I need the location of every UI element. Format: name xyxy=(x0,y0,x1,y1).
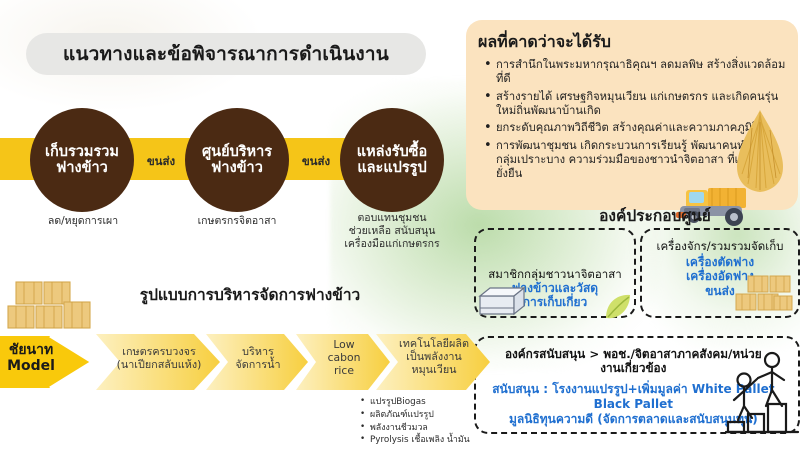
infographic-canvas: แนวทางและข้อพิจารณาการดำเนินงาน เก็บรวมร… xyxy=(0,0,800,450)
list-item: ผลิตภัณฑ์แปรรูป xyxy=(360,409,510,422)
flow-circle-center-line1: ศูนย์บริหาร xyxy=(202,144,272,160)
model-arrow-label-line1: ชัยนาท xyxy=(0,342,64,358)
flow-caption-buyer-line3: เครื่องมือแก่เกษตรกร xyxy=(330,238,454,251)
center-components-heading: องค์ประกอบศูนย์ xyxy=(560,203,750,228)
flow-step-1[interactable]: เกษตรครบวงจร (นาเปียกสลับแห้ง) xyxy=(96,330,222,394)
flow-circle-collect[interactable]: เก็บรวมรวม ฟางข้าว xyxy=(30,108,134,212)
flow-caption-buyer-line1: ตอบแทนชุมชน xyxy=(330,212,454,225)
component-box-support-org[interactable]: องค์กรสนับสนุน > พอช./จิตอาสาภาคสังคม/หน… xyxy=(474,336,800,434)
flow-circle-buyer[interactable]: แหล่งรับซื้อ และแปรรูป xyxy=(340,108,444,212)
transport-label-1: ขนส่ง xyxy=(133,153,189,171)
storage-crate-icon xyxy=(474,284,526,320)
flow-step-4-line1: เทคโนโลยีผลิต xyxy=(376,338,492,351)
component-box-machinery-label: เครื่องจักร/รวมรวมจัดเก็บ xyxy=(642,238,798,256)
list-item: แปรรูปBiogas xyxy=(360,396,510,409)
flow-caption-buyer-line2: ช่วยเหลือ สนับสนุน xyxy=(330,225,454,238)
flow-caption-collect: ลด/หยุดการเผา xyxy=(22,215,144,228)
component-box-members[interactable]: A B C สมาชิกกลุ่มชาวนาจิตอาสา ฟางข้าวและ… xyxy=(474,228,636,318)
flow-step-4[interactable]: เทคโนโลยีผลิต เป็นพลังงาน หมุนเวียน xyxy=(376,330,492,394)
bottom-flow-heading: รูปแบบการบริหารจัดการฟางข้าว xyxy=(100,282,400,307)
component-box-machinery-sublabel-line1: เครื่องตัดฟาง xyxy=(642,255,798,269)
flow-circle-collect-line2: ฟางข้าว xyxy=(45,160,119,176)
flow-step-1-line1: เกษตรครบวงจร xyxy=(96,346,222,359)
flow-step-1-line2: (นาเปียกสลับแห้ง) xyxy=(96,359,222,372)
flow-circle-center[interactable]: ศูนย์บริหาร ฟางข้าว xyxy=(185,108,289,212)
model-arrow-label: ชัยนาท Model xyxy=(0,342,64,374)
flow-step-4-line3: หมุนเวียน xyxy=(376,364,492,377)
page-title-pill: แนวทางและข้อพิจารณาการดำเนินงาน xyxy=(26,33,426,75)
model-arrow-label-line2: Model xyxy=(0,358,64,374)
flow-step-2[interactable]: บริหาร จัดการน้ำ xyxy=(206,330,310,394)
energy-technology-bullets: แปรรูปBiogas ผลิตภัณฑ์แปรรูป พลังงานชีวม… xyxy=(360,396,510,447)
flow-circle-buyer-line1: แหล่งรับซื้อ xyxy=(357,144,427,160)
component-box-machinery[interactable]: เครื่องจักร/รวมรวมจัดเก็บ เครื่องตัดฟาง … xyxy=(640,228,800,318)
flow-circle-buyer-line2: และแปรรูป xyxy=(357,160,427,176)
flow-step-4-line2: เป็นพลังงาน xyxy=(376,351,492,364)
model-arrow[interactable]: ชัยนาท Model xyxy=(0,330,96,394)
flow-circle-collect-line1: เก็บรวมรวม xyxy=(45,144,119,160)
flow-step-2-line2: จัดการน้ำ xyxy=(206,359,310,372)
list-item: การสำนึกในพระมหากรุณาธิคุณฯ ลดมลพิษ สร้า… xyxy=(496,58,788,87)
list-item: พลังงานชีวมวล xyxy=(360,422,510,435)
flow-circle-center-line2: ฟางข้าว xyxy=(202,160,272,176)
leaf-icon xyxy=(602,292,632,322)
hay-bales-icon xyxy=(732,272,794,318)
flow-step-2-line1: บริหาร xyxy=(206,346,310,359)
expected-outcome-heading: ผลที่คาดว่าจะได้รับ xyxy=(478,30,798,55)
flow-caption-buyer: ตอบแทนชุมชน ช่วยเหลือ สนับสนุน เครื่องมื… xyxy=(330,212,454,251)
transport-label-2: ขนส่ง xyxy=(288,153,344,171)
people-helping-icon xyxy=(724,348,800,434)
flow-caption-center: เกษตรกรจิตอาสา xyxy=(176,215,298,228)
page-title: แนวทางและข้อพิจารณาการดำเนินงาน xyxy=(63,39,389,69)
list-item: Pyrolysis เชื้อเพลิง น้ำมัน xyxy=(360,434,510,447)
straw-pile-icon xyxy=(726,108,794,194)
